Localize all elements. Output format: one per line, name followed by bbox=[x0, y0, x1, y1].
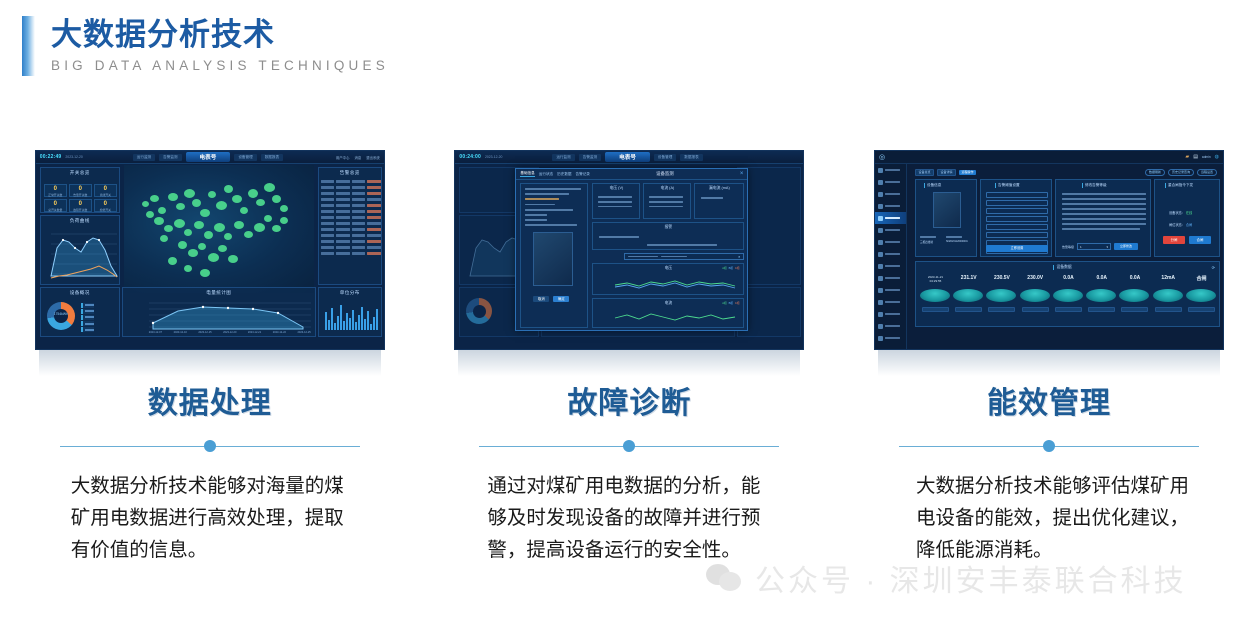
panel-load-curve-title: 负荷曲线 bbox=[41, 216, 119, 224]
topbar-date: 2023-12-20 bbox=[65, 155, 82, 159]
alarm-level-label: 告警等级 bbox=[1062, 245, 1074, 249]
load-curve-chart bbox=[41, 226, 121, 284]
toolbar-buttons: 数据刷新 历史记录查询 远程设置 bbox=[1145, 169, 1217, 176]
header-text-group: 大数据分析技术 BIG DATA ANALYSIS TECHNIQUES bbox=[51, 16, 389, 76]
protocol-icon bbox=[878, 300, 883, 305]
topbar-tab-4[interactable]: 数据报表 bbox=[680, 154, 702, 161]
modal-header: 基础信息 运行状态 历史数据 告警记录 设备监测 × bbox=[516, 169, 747, 180]
table-row bbox=[321, 251, 381, 256]
topbar-message[interactable]: 消息 bbox=[354, 155, 361, 160]
topbar-tab-2[interactable]: 告警监测 bbox=[159, 154, 181, 161]
stat-label: 检修开关 bbox=[95, 208, 116, 212]
card-divider bbox=[60, 438, 360, 454]
cards-row: 00:22:49 2023-12-20 运行监测 告警监测 电表号 设备管理 数… bbox=[0, 150, 1259, 566]
switch-status-value: 合闸 bbox=[1186, 223, 1192, 227]
device-info-meta: 三相四线制 SN20231120000001 bbox=[920, 236, 968, 244]
toolbar-tab-detail[interactable]: 设备详情 bbox=[937, 169, 956, 176]
gear-icon bbox=[878, 264, 883, 269]
admin-topbar: ◎ ▰ ▤ admin ◍ bbox=[875, 151, 1223, 164]
chart-legend: A相 B相 C相 bbox=[722, 301, 739, 305]
threshold-field[interactable] bbox=[986, 200, 1048, 206]
legend-b: B相 bbox=[729, 301, 733, 305]
table-row bbox=[321, 239, 381, 244]
device-status-value: 在线 bbox=[1186, 211, 1192, 215]
table-row bbox=[321, 233, 381, 238]
modal-current-chart-panel: 电流 A相 B相 C相 bbox=[592, 298, 744, 328]
section-device-data-title: 设备数据 bbox=[1053, 265, 1071, 270]
toolbar-tab-overview[interactable]: 设备总览 bbox=[915, 169, 934, 176]
table-row bbox=[321, 245, 381, 250]
admin-toolbar: 设备总览 设备详情 远程操作 数据刷新 历史记录查询 远程设置 bbox=[915, 168, 1217, 176]
card-fault-diagnosis: 00:24:00 2023-12-20 运行监测 告警监测 电表号 设备管理 数… bbox=[420, 150, 840, 566]
data-card: 合闸 bbox=[1186, 275, 1217, 321]
section-alarm-levels: 修改告警等级 告警等级 1 ▾ 立即修改 bbox=[1055, 179, 1151, 257]
x-tick: 2023-12-15 bbox=[198, 331, 211, 334]
card-body-text: 通过对煤矿用电数据的分析，能够及时发现设备的故障并进行预警，提高设备运行的安全性… bbox=[487, 470, 771, 566]
alarm-level-rows bbox=[1062, 193, 1146, 230]
legend-item bbox=[81, 303, 94, 308]
panel-load-curve: 负荷曲线 bbox=[40, 215, 120, 285]
stat-label: 总开关数量 bbox=[45, 208, 66, 212]
app-logo-icon: ◎ bbox=[879, 153, 885, 161]
sidebar-item-monitoring[interactable] bbox=[875, 164, 906, 176]
threshold-field[interactable] bbox=[986, 232, 1048, 238]
dashboard-topbar: 00:24:00 2023-12-20 运行监测 告警监测 电表号 设备管理 数… bbox=[455, 151, 803, 164]
dashboard-screenshot-monitoring[interactable]: 00:22:49 2023-12-20 运行监测 告警监测 电表号 设备管理 数… bbox=[35, 150, 385, 350]
alarm-rows[interactable] bbox=[319, 177, 383, 258]
section-threshold-title: 告警阈值设置 bbox=[995, 183, 1020, 188]
stat-card: 0 检修开关 bbox=[94, 199, 117, 212]
device-thumbnail bbox=[933, 192, 961, 228]
network-icon bbox=[878, 276, 883, 281]
panel-switch-overview-title: 开关总览 bbox=[41, 168, 119, 176]
device-status-label: 设备状态： bbox=[1169, 211, 1185, 215]
chevron-down-icon[interactable]: ▾ bbox=[1106, 244, 1108, 251]
card-title: 能效管理 bbox=[987, 386, 1111, 422]
threshold-field[interactable] bbox=[986, 224, 1048, 230]
stat-label: 正常开关数 bbox=[45, 193, 66, 197]
monitor-icon bbox=[878, 168, 883, 173]
x-tick: 2023-12-22 bbox=[273, 331, 286, 334]
metric-group-title: 电流 (A) bbox=[644, 184, 690, 191]
data-card: 230.5V bbox=[986, 275, 1017, 321]
stat-card: 0 总开关数量 bbox=[44, 199, 67, 212]
screenshot-reflection bbox=[39, 350, 381, 376]
power-chart-x-axis: 2023-12-07 2023-12-10 2023-12-15 2023-12… bbox=[149, 331, 311, 334]
data-card: 0.0A bbox=[1053, 275, 1084, 321]
donut-legend bbox=[81, 303, 94, 332]
map-canvas[interactable] bbox=[124, 165, 314, 293]
section-threshold: 告警阈值设置 立即设置 bbox=[980, 179, 1052, 257]
card-title: 数据处理 bbox=[148, 386, 272, 422]
modal-voltage-chart-panel: 电压 A相 B相 C相 bbox=[592, 263, 744, 295]
panel-unit-distribution: 单位分布 bbox=[318, 287, 382, 337]
legend-item bbox=[81, 321, 94, 326]
divider-dot bbox=[204, 440, 216, 452]
panel-alarm-list-title: 告警总览 bbox=[319, 168, 381, 176]
stat-card: 0 离线开关 bbox=[94, 184, 117, 197]
stat-card: 0 告警开关数 bbox=[69, 184, 92, 197]
donut-chart bbox=[47, 302, 75, 330]
power-area-chart bbox=[123, 297, 317, 335]
topbar-right-group: 用户中心 消息 退出系统 bbox=[336, 155, 380, 160]
stat-value: 0 bbox=[70, 201, 91, 208]
chart-title: 电流 bbox=[593, 299, 743, 306]
close-switch-button[interactable]: 合闸 bbox=[1189, 236, 1211, 244]
alarm-level-value: 1 bbox=[1080, 245, 1082, 249]
screenshot-wrapper-2: 00:24:00 2023-12-20 运行监测 告警监测 电表号 设备管理 数… bbox=[454, 150, 804, 350]
topbar-clock: 00:24:00 bbox=[459, 154, 481, 160]
section-remote-title: 重合闸指令下发 bbox=[1165, 183, 1193, 188]
open-switch-button[interactable]: 分闸 bbox=[1163, 236, 1185, 244]
table-row bbox=[321, 197, 381, 202]
switch-status-row: 闸位状态： 合闸 bbox=[1169, 222, 1192, 227]
modal-confirm-button[interactable]: 确定 bbox=[553, 296, 569, 302]
sidebar-item-users[interactable] bbox=[875, 176, 906, 188]
lock-icon bbox=[878, 192, 883, 197]
device-icon bbox=[878, 216, 883, 221]
metric-group-title: 漏电流 (mA) bbox=[695, 184, 743, 191]
ops-icon bbox=[878, 324, 883, 329]
search-icon[interactable]: ⌕ bbox=[738, 254, 740, 259]
topbar-tab-1[interactable]: 运行监测 bbox=[552, 154, 574, 161]
topbar-center-title: 电表号 bbox=[186, 152, 231, 162]
table-row bbox=[321, 185, 381, 190]
remote-settings-button[interactable]: 远程设置 bbox=[1197, 169, 1217, 176]
data-card: 0.0A bbox=[1119, 275, 1150, 321]
device-data-cards: 2023-11-21 04:29:55 231.1V 230.5V bbox=[920, 275, 1217, 321]
switch-status-label: 闸位状态： bbox=[1169, 223, 1185, 227]
stat-value: 0 bbox=[45, 201, 66, 208]
x-tick: 2023-12-10 bbox=[174, 331, 187, 334]
topbar-tab-1[interactable]: 运行监测 bbox=[133, 154, 155, 161]
metric-group-title: 电压 (V) bbox=[593, 184, 639, 191]
modal-tab-history[interactable]: 历史数据 bbox=[557, 172, 571, 177]
threshold-field[interactable] bbox=[986, 208, 1048, 214]
card-energy-management: ◎ ▰ ▤ admin ◍ bbox=[839, 150, 1259, 566]
sidebar-item-protocol[interactable] bbox=[875, 296, 906, 308]
modal-tab-status[interactable]: 运行状态 bbox=[539, 172, 553, 177]
screenshot-wrapper-3: ◎ ▰ ▤ admin ◍ bbox=[874, 150, 1224, 350]
stat-label: 离线开关 bbox=[95, 193, 116, 197]
card-body-text: 大数据分析技术能够对海量的煤矿用电数据进行高效处理，提取有价值的信息。 bbox=[71, 470, 355, 566]
data-card-value: 0.0A bbox=[1053, 275, 1084, 281]
modal-title: 设备监测 bbox=[656, 171, 674, 177]
threshold-field[interactable] bbox=[986, 192, 1048, 198]
history-query-button[interactable]: 历史记录查询 bbox=[1168, 169, 1194, 176]
screenshot-reflection bbox=[458, 350, 800, 376]
panel-device-overview: 设备概况 1754kWh bbox=[40, 287, 120, 337]
dashboard-screenshot-fault-modal[interactable]: 00:24:00 2023-12-20 运行监测 告警监测 电表号 设备管理 数… bbox=[454, 150, 804, 350]
legend-b: B相 bbox=[729, 266, 733, 270]
modal-alarm-title: 报警 bbox=[593, 223, 743, 230]
table-row bbox=[321, 179, 381, 184]
log-icon bbox=[878, 240, 883, 245]
metric-group-current: 电流 (A) bbox=[643, 183, 691, 219]
toolbar-tab-remote[interactable]: 远程操作 bbox=[959, 170, 976, 175]
panel-power-statistics-title: 电量统计图 bbox=[123, 288, 315, 296]
sidebar-item-network[interactable] bbox=[875, 272, 906, 284]
sidebar-item-ops[interactable] bbox=[875, 320, 906, 332]
metric-group-voltage: 电压 (V) bbox=[592, 183, 640, 219]
table-row bbox=[321, 209, 381, 214]
sidebar-item-remote[interactable] bbox=[875, 284, 906, 296]
x-tick: 2023-12-25 bbox=[297, 331, 310, 334]
legend-a: A相 bbox=[722, 301, 726, 305]
device-image bbox=[533, 232, 573, 286]
folder-icon[interactable]: ▰ bbox=[1185, 154, 1189, 160]
data-card: 231.1V bbox=[953, 275, 984, 321]
unit-bar-chart bbox=[325, 302, 379, 330]
stat-card: 0 正常开关数 bbox=[44, 184, 67, 197]
admin-user-label[interactable]: admin bbox=[1202, 155, 1211, 159]
legend-c: C相 bbox=[735, 301, 739, 305]
sidebar-item-logs[interactable] bbox=[875, 236, 906, 248]
topbar-logout[interactable]: 退出系统 bbox=[366, 155, 380, 160]
data-card-value: 230.5V bbox=[986, 275, 1017, 281]
dashboard-screenshot-admin[interactable]: ◎ ▰ ▤ admin ◍ bbox=[874, 150, 1224, 350]
card-body-text: 大数据分析技术能够评估煤矿用电设备的能效，提出优化建议，降低能源消耗。 bbox=[916, 470, 1200, 566]
alarm-level-controls[interactable]: 告警等级 1 ▾ 立即修改 bbox=[1062, 243, 1138, 250]
legend-a: A相 bbox=[722, 266, 726, 270]
refresh-icon[interactable]: ⟳ bbox=[1212, 265, 1215, 270]
table-row bbox=[321, 203, 381, 208]
sidebar-item-units[interactable] bbox=[875, 200, 906, 212]
avatar[interactable]: ◍ bbox=[1215, 154, 1219, 160]
device-sn-value: SN20231120000001 bbox=[946, 240, 968, 243]
data-card-value: 0.0A bbox=[1119, 275, 1150, 281]
page-title: 大数据分析技术 bbox=[51, 16, 389, 54]
legend-item bbox=[81, 315, 94, 320]
topbar-clock: 00:22:49 bbox=[40, 154, 62, 160]
section-device-info: 设备信息 三相四线制 SN20231120000001 bbox=[915, 179, 977, 257]
refresh-data-button[interactable]: 数据刷新 bbox=[1145, 169, 1165, 176]
panel-unit-distribution-title: 单位分布 bbox=[319, 288, 381, 296]
screenshot-reflection bbox=[878, 350, 1220, 376]
close-icon[interactable]: × bbox=[740, 171, 744, 177]
data-card-value: 12mA bbox=[1153, 275, 1184, 281]
stat-value: 0 bbox=[95, 186, 116, 193]
strategy-icon bbox=[878, 252, 883, 257]
modal-alarm-panel: 报警 bbox=[592, 222, 744, 250]
legend-item bbox=[81, 327, 94, 332]
data-card: 12mA bbox=[1153, 275, 1184, 321]
data-card-value: 合闸 bbox=[1186, 275, 1217, 282]
settings-icon bbox=[878, 312, 883, 317]
divider-dot bbox=[623, 440, 635, 452]
header-accent-bar bbox=[22, 16, 35, 76]
panel-alarm-list: 告警总览 bbox=[318, 167, 382, 285]
data-card: 0.0A bbox=[1086, 275, 1117, 321]
voltage-line-chart bbox=[593, 273, 745, 293]
card-divider bbox=[899, 438, 1199, 454]
divider-dot bbox=[1043, 440, 1055, 452]
panel-switch-overview: 开关总览 0 正常开关数 0 告警开关数 0 离线开关 0 bbox=[40, 167, 120, 213]
user-icon bbox=[878, 180, 883, 185]
sidebar-item-devices[interactable] bbox=[875, 212, 906, 224]
chart-legend: A相 B相 C相 bbox=[722, 266, 739, 270]
table-row bbox=[321, 221, 381, 226]
x-tick: 2023-12-07 bbox=[149, 331, 162, 334]
panel-power-statistics: 电量统计图 bbox=[122, 287, 316, 337]
sidebar-item-strategy[interactable] bbox=[875, 248, 906, 260]
stat-value: 0 bbox=[70, 186, 91, 193]
menu-icon[interactable]: ▤ bbox=[1193, 154, 1198, 160]
bell-icon bbox=[878, 228, 883, 233]
data-card-value: 231.1V bbox=[953, 275, 984, 281]
table-row bbox=[321, 227, 381, 232]
modal-date-search-bar[interactable]: ⌕ bbox=[624, 253, 744, 260]
threshold-apply-button[interactable]: 立即设置 bbox=[986, 245, 1048, 252]
sidebar-item-alarms[interactable] bbox=[875, 224, 906, 236]
admin-topbar-right: ▰ ▤ admin ◍ bbox=[1185, 154, 1219, 160]
section-alarm-levels-title: 修改告警等级 bbox=[1082, 183, 1107, 188]
modal-cancel-button[interactable]: 取消 bbox=[533, 296, 549, 302]
table-row bbox=[321, 191, 381, 196]
section-device-info-title: 设备信息 bbox=[924, 183, 941, 188]
modal-info-list bbox=[525, 188, 585, 226]
panel-device-overview-title: 设备概况 bbox=[41, 288, 119, 296]
card-data-processing: 00:22:49 2023-12-20 运行监测 告警监测 电表号 设备管理 数… bbox=[0, 150, 420, 566]
x-tick: 2023-12-20 bbox=[223, 331, 236, 334]
stat-label: 故障开关数 bbox=[70, 208, 91, 212]
stat-value: 0 bbox=[95, 201, 116, 208]
stat-label: 告警开关数 bbox=[70, 193, 91, 197]
card-divider bbox=[479, 438, 779, 454]
wechat-icon bbox=[706, 562, 746, 594]
metric-group-leakage: 漏电流 (mA) bbox=[694, 183, 744, 219]
data-card: 230.0V bbox=[1020, 275, 1051, 321]
topbar-tab-3[interactable]: 设备管理 bbox=[234, 154, 256, 161]
card-title: 故障诊断 bbox=[567, 386, 691, 422]
device-type-value: 三相四线制 bbox=[920, 240, 936, 244]
screenshot-wrapper-1: 00:22:49 2023-12-20 运行监测 告警监测 电表号 设备管理 数… bbox=[35, 150, 385, 350]
sidebar-item-roles[interactable] bbox=[875, 188, 906, 200]
building-icon bbox=[878, 204, 883, 209]
current-line-chart bbox=[593, 308, 745, 326]
modal-info-panel: 取消 确定 bbox=[520, 183, 588, 328]
topbar-user[interactable]: 用户中心 bbox=[336, 155, 350, 160]
data-card-value: 0.0A bbox=[1086, 275, 1117, 281]
data-card-value: 2023-11-21 04:29:55 bbox=[920, 275, 951, 283]
modal-tab-basic[interactable]: 基础信息 bbox=[520, 171, 534, 177]
alarm-level-apply-button[interactable]: 立即修改 bbox=[1114, 243, 1138, 250]
sidebar-item-workorder[interactable] bbox=[875, 332, 906, 344]
section-device-data: 设备数据 ⟳ 2023-11-21 04:29:55 231.1V bbox=[915, 261, 1220, 327]
chart-title: 电压 bbox=[593, 264, 743, 271]
device-status-row: 设备状态： 在线 bbox=[1169, 210, 1192, 215]
topbar-date: 2023-12-20 bbox=[485, 155, 502, 159]
topbar-tab-3[interactable]: 设备管理 bbox=[654, 154, 676, 161]
topbar-tab-2[interactable]: 告警监测 bbox=[579, 154, 601, 161]
admin-sidebar[interactable] bbox=[875, 164, 907, 349]
sidebar-item-system[interactable] bbox=[875, 308, 906, 320]
alarm-level-select[interactable]: 1 ▾ bbox=[1077, 243, 1111, 250]
donut-center-value: 1754kWh bbox=[53, 312, 69, 316]
data-card: 2023-11-21 04:29:55 bbox=[920, 275, 951, 321]
section-remote-control: 重合闸指令下发 设备状态： 在线 闸位状态： 合闸 分闸 合闸 bbox=[1154, 179, 1220, 257]
ticket-icon bbox=[878, 336, 883, 341]
x-tick: 2023-12-21 bbox=[248, 331, 261, 334]
table-row bbox=[321, 215, 381, 220]
topbar-center-title: 电表号 bbox=[605, 152, 650, 162]
sidebar-item-comm[interactable] bbox=[875, 260, 906, 272]
legend-c: C相 bbox=[735, 266, 739, 270]
modal-tab-alarm[interactable]: 告警记录 bbox=[576, 172, 590, 177]
legend-item bbox=[81, 309, 94, 314]
page-subtitle: BIG DATA ANALYSIS TECHNIQUES bbox=[51, 56, 389, 76]
data-card-value: 230.0V bbox=[1020, 275, 1051, 281]
remote-icon bbox=[878, 288, 883, 293]
topbar-tab-4[interactable]: 数据报表 bbox=[261, 154, 283, 161]
dashboard-topbar: 00:22:49 2023-12-20 运行监测 告警监测 电表号 设备管理 数… bbox=[36, 151, 384, 164]
threshold-field[interactable] bbox=[986, 216, 1048, 222]
stat-value: 0 bbox=[45, 186, 66, 193]
page-header: 大数据分析技术 BIG DATA ANALYSIS TECHNIQUES bbox=[22, 16, 389, 76]
device-detail-modal[interactable]: 基础信息 运行状态 历史数据 告警记录 设备监测 × bbox=[515, 168, 748, 331]
stat-card: 0 故障开关数 bbox=[69, 199, 92, 212]
